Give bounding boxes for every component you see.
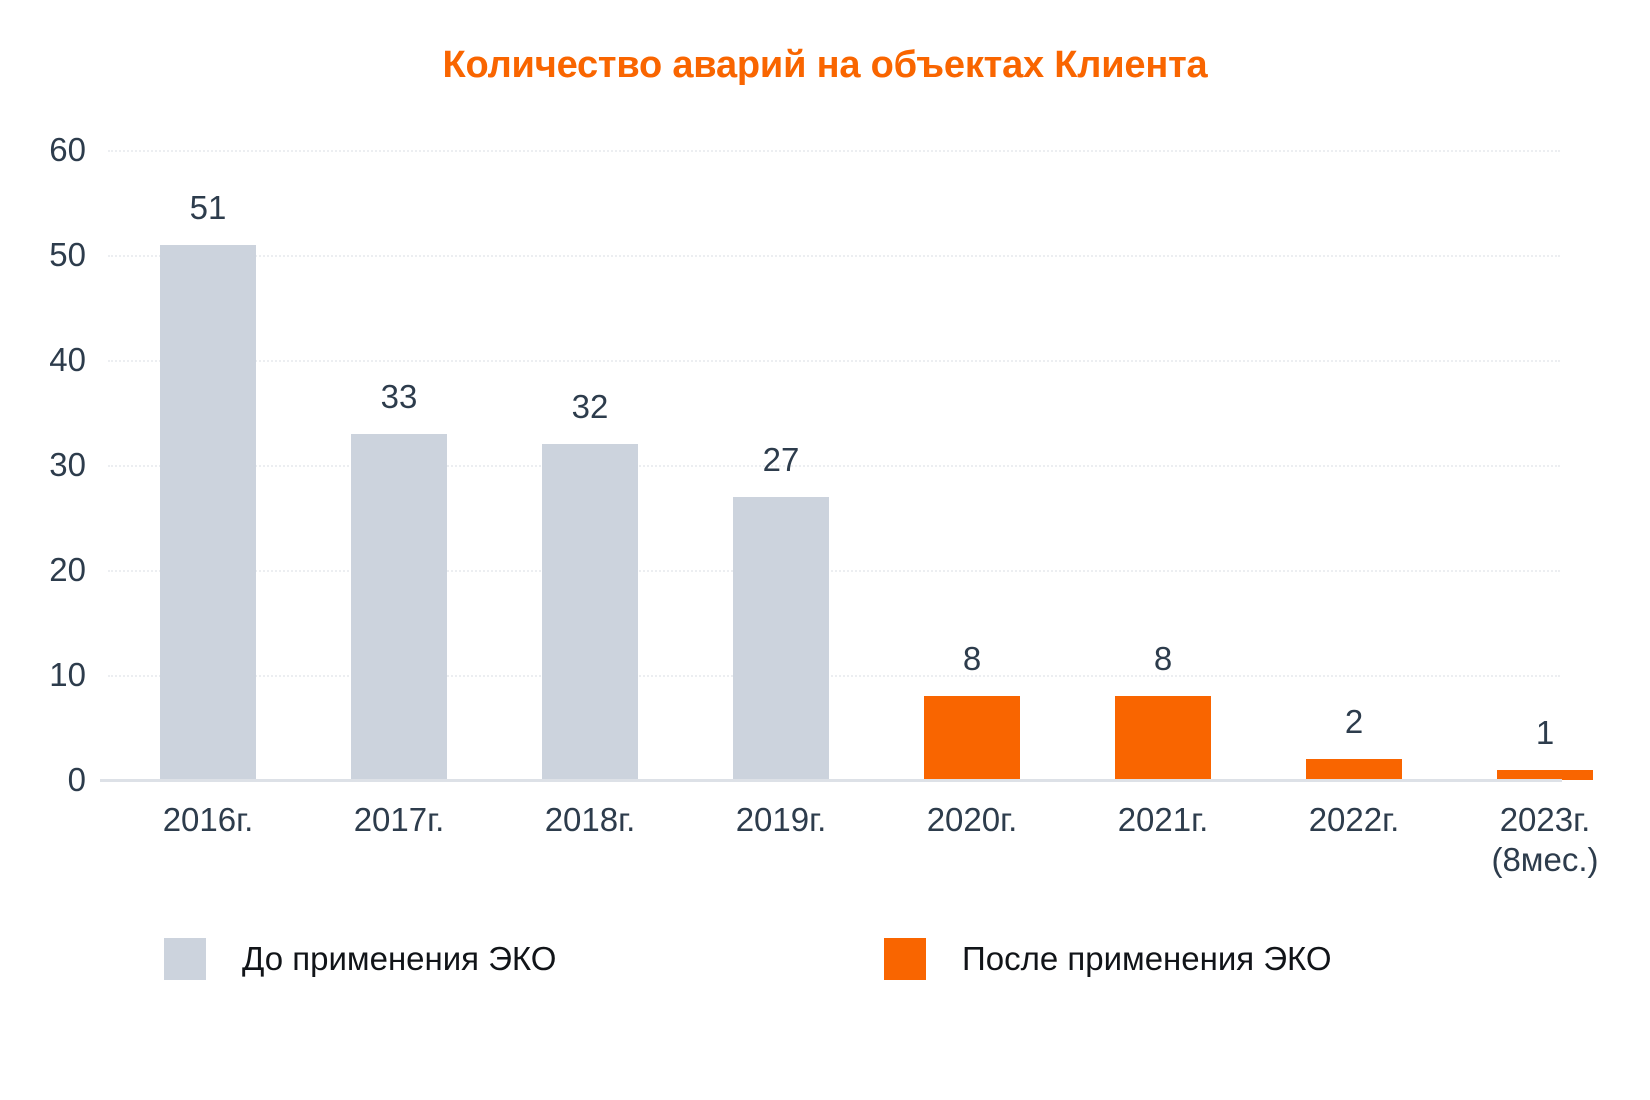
x-axis-tick-label: 2016г. (108, 800, 308, 840)
chart-title: Количество аварий на объектах Клиента (0, 44, 1650, 87)
bar-2020[interactable] (924, 696, 1020, 780)
bar-2022[interactable] (1306, 759, 1402, 780)
x-axis-tick-label: 2020г. (872, 800, 1072, 840)
bar-2019[interactable] (733, 497, 829, 781)
x-axis-tick-label: 2022г. (1254, 800, 1454, 840)
bar-value-label: 32 (572, 388, 609, 426)
bar-slot: 27 (733, 150, 829, 780)
y-axis-tick-label: 50 (6, 236, 86, 274)
y-axis-tick-label: 0 (6, 761, 86, 799)
bar-slot: 33 (351, 150, 447, 780)
bar-value-label: 8 (963, 640, 981, 678)
x-axis-baseline (100, 779, 1562, 782)
plot-area: 513332278821 (108, 150, 1560, 780)
bar-slot: 8 (1115, 150, 1211, 780)
bar-slot: 32 (542, 150, 638, 780)
x-axis-tick-label: 2023г.(8мес.) (1445, 800, 1645, 881)
y-axis: 0102030405060 (0, 150, 86, 780)
bar-slot: 2 (1306, 150, 1402, 780)
bar-2016[interactable] (160, 245, 256, 781)
bar-value-label: 8 (1154, 640, 1172, 678)
bar-slot: 8 (924, 150, 1020, 780)
legend-label-before: До применения ЭКО (242, 940, 556, 978)
bar-slot: 51 (160, 150, 256, 780)
x-axis-tick-label: 2019г. (681, 800, 881, 840)
bar-slot: 1 (1497, 150, 1593, 780)
bar-value-label: 2 (1345, 703, 1363, 741)
x-axis-tick-label: 2018г. (490, 800, 690, 840)
legend-item-after[interactable]: После применения ЭКО (884, 938, 1332, 980)
chart-legend: До применения ЭКО После применения ЭКО (0, 938, 1650, 1008)
bar-chart: Количество аварий на объектах Клиента 01… (0, 0, 1650, 1100)
bar-2018[interactable] (542, 444, 638, 780)
y-axis-tick-label: 40 (6, 341, 86, 379)
legend-swatch-after-icon (884, 938, 926, 980)
x-axis-tick-label: 2017г. (299, 800, 499, 840)
bar-value-label: 51 (190, 189, 227, 227)
bar-value-label: 33 (381, 378, 418, 416)
y-axis-tick-label: 10 (6, 656, 86, 694)
y-axis-tick-label: 30 (6, 446, 86, 484)
legend-label-after: После применения ЭКО (962, 940, 1332, 978)
bar-2017[interactable] (351, 434, 447, 781)
legend-item-before[interactable]: До применения ЭКО (164, 938, 556, 980)
y-axis-tick-label: 20 (6, 551, 86, 589)
y-axis-tick-label: 60 (6, 131, 86, 169)
legend-swatch-before-icon (164, 938, 206, 980)
bar-value-label: 27 (763, 441, 800, 479)
x-axis-tick-label: 2021г. (1063, 800, 1263, 840)
bar-value-label: 1 (1536, 714, 1554, 752)
bar-2021[interactable] (1115, 696, 1211, 780)
